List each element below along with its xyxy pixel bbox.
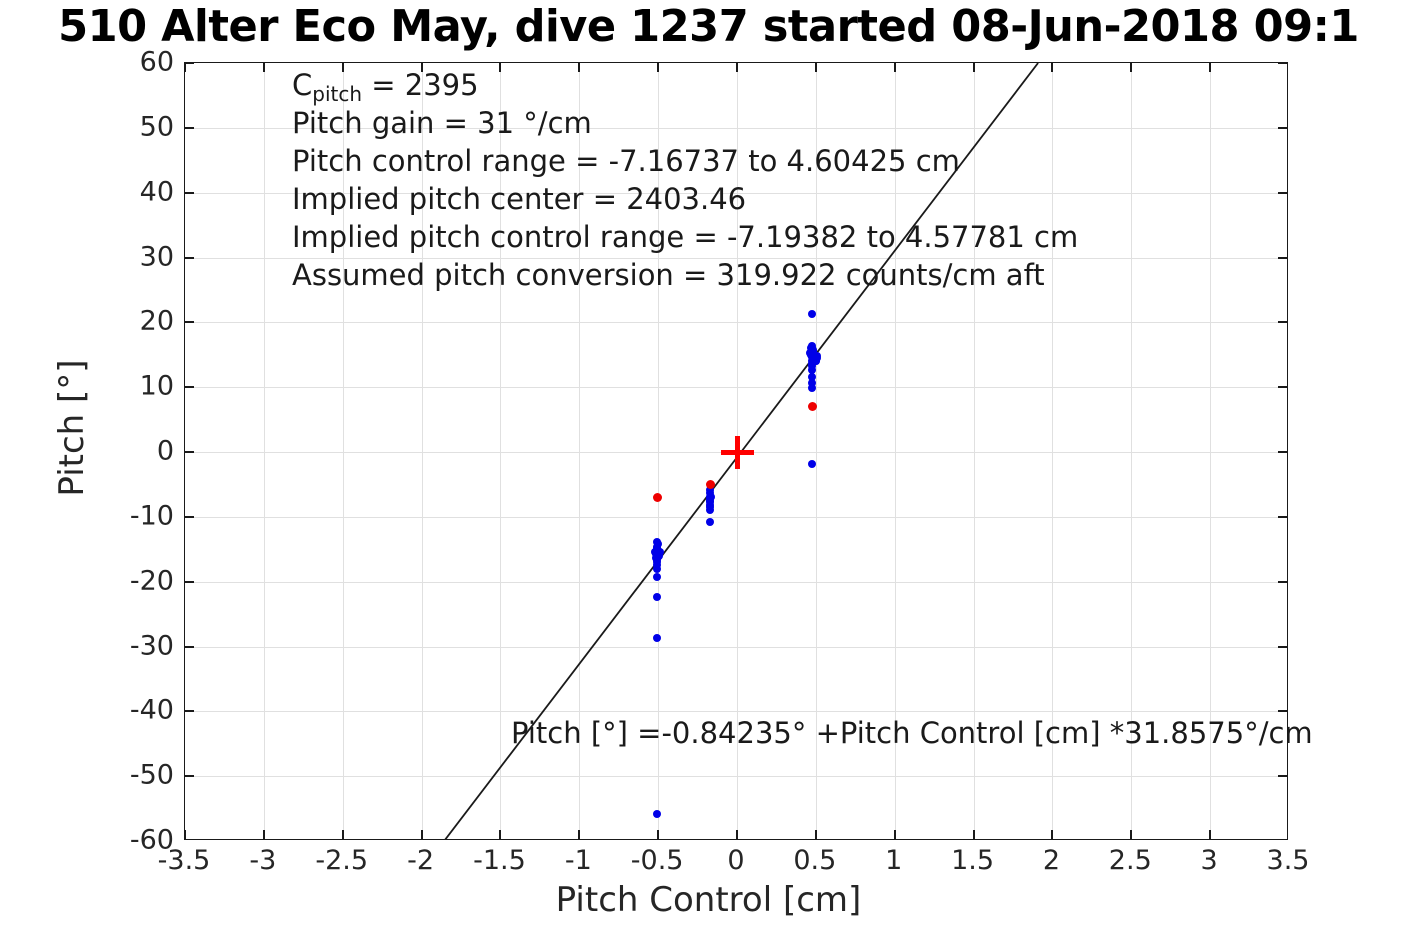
annotation-line-pitch-gain: Pitch gain = 31 °/cm xyxy=(292,104,1078,142)
annotation-line-implied-pitch-center: Implied pitch center = 2403.46 xyxy=(292,180,1078,218)
annotation-line-cpitch: Cpitch = 2395 xyxy=(292,66,1078,104)
x-tick-label: -1 xyxy=(565,845,592,876)
annotation-text-block: Cpitch = 2395 Pitch gain = 31 °/cm Pitch… xyxy=(292,66,1078,294)
annotation-line-assumed-pitch-conversion: Assumed pitch conversion = 319.922 count… xyxy=(292,256,1078,294)
annotation-line-pitch-control-range: Pitch control range = -7.16737 to 4.6042… xyxy=(292,142,1078,180)
y-tick-label: 60 xyxy=(140,47,174,78)
y-tick-label: -30 xyxy=(130,630,174,661)
y-tick-label: 10 xyxy=(140,371,174,402)
y-tick-label: 20 xyxy=(140,306,174,337)
y-tick-label: -50 xyxy=(130,760,174,791)
x-tick-label: -0.5 xyxy=(631,845,684,876)
y-tick-label: 0 xyxy=(157,436,174,467)
x-axis-label: Pitch Control [cm] xyxy=(0,880,1417,920)
scatter-point xyxy=(813,352,821,360)
y-tick-label: -10 xyxy=(130,500,174,531)
y-tick-label: 50 xyxy=(140,111,174,142)
annotation-line-implied-pitch-control-range: Implied pitch control range = -7.19382 t… xyxy=(292,218,1078,256)
scatter-point xyxy=(653,593,661,601)
cpitch-value: = 2395 xyxy=(362,68,479,102)
y-tick-label: -60 xyxy=(130,825,174,856)
y-tick-label: 30 xyxy=(140,241,174,272)
x-tick-label: 0 xyxy=(727,845,744,876)
x-tick-label: 1.5 xyxy=(951,845,994,876)
x-tick-label: 3.5 xyxy=(1267,845,1310,876)
page-title: 510 Alter Eco May, dive 1237 started 08-… xyxy=(14,0,1403,56)
y-tick-label: -40 xyxy=(130,695,174,726)
x-tick-label: 1 xyxy=(885,845,902,876)
scatter-point xyxy=(706,480,715,489)
x-tick-label: 3 xyxy=(1201,845,1218,876)
x-tick-label: -2.5 xyxy=(315,845,368,876)
cpitch-subscript: pitch xyxy=(312,82,362,106)
pitch-center-vertical-bar xyxy=(735,436,740,469)
fit-equation-label: Pitch [°] =-0.84235° +Pitch Control [cm]… xyxy=(511,716,1313,750)
scatter-point xyxy=(706,497,714,505)
scatter-point xyxy=(653,558,661,566)
x-tick-label: 2 xyxy=(1043,845,1060,876)
x-tick-label: -2 xyxy=(407,845,434,876)
scatter-point xyxy=(808,402,817,411)
cpitch-symbol: C xyxy=(292,68,312,102)
scatter-point xyxy=(653,493,662,502)
y-axis-label: Pitch [°] xyxy=(52,298,92,558)
x-tick-label: 0.5 xyxy=(793,845,836,876)
x-tick-label: -3 xyxy=(249,845,276,876)
y-tick-label: -20 xyxy=(130,565,174,596)
x-tick-label: 2.5 xyxy=(1109,845,1152,876)
y-tick-label: 40 xyxy=(140,176,174,207)
x-tick-label: -1.5 xyxy=(473,845,526,876)
